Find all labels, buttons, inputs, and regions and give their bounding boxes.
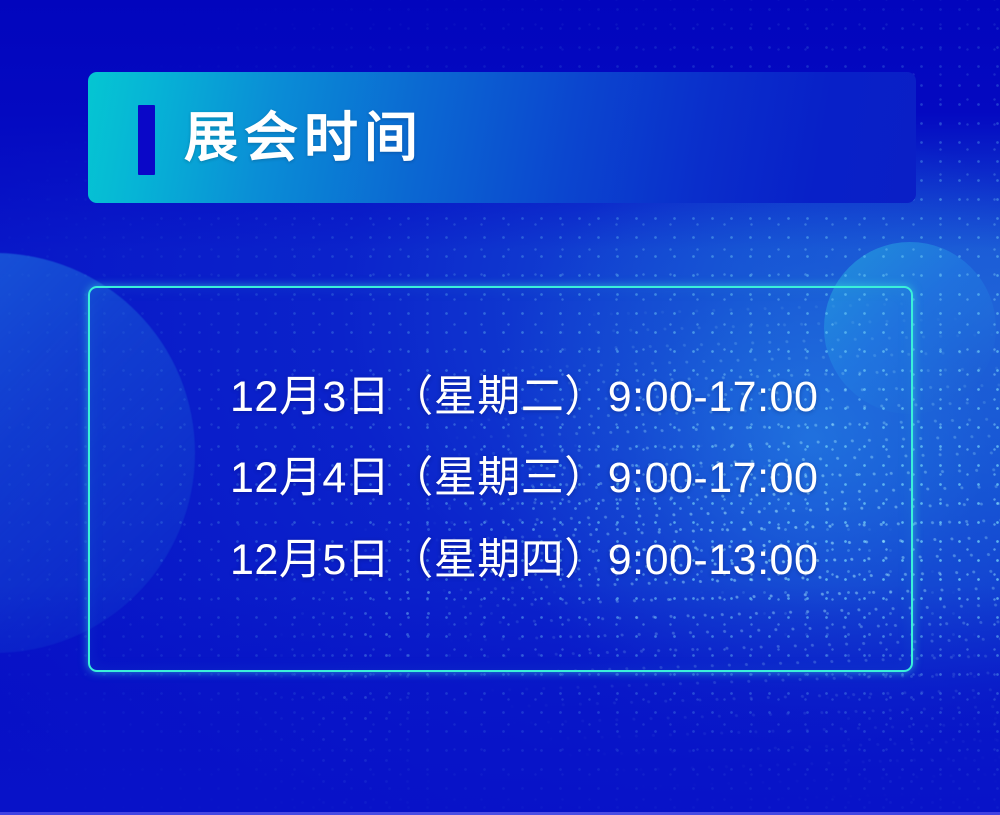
schedule-item: 12月4日（星期三）9:00-17:00 [230,456,911,501]
section-header-banner: 展会时间 [88,72,916,203]
schedule-item: 12月3日（星期二）9:00-17:00 [230,375,911,420]
poster-canvas: 展会时间 12月3日（星期二）9:00-17:00 12月4日（星期三）9:00… [0,0,1000,815]
schedule-list: 12月3日（星期二）9:00-17:00 12月4日（星期三）9:00-17:0… [90,375,911,582]
accent-bar-icon [138,105,155,175]
schedule-item: 12月5日（星期四）9:00-13:00 [230,538,911,583]
page-title: 展会时间 [184,111,424,165]
schedule-panel: 12月3日（星期二）9:00-17:00 12月4日（星期三）9:00-17:0… [88,286,913,672]
